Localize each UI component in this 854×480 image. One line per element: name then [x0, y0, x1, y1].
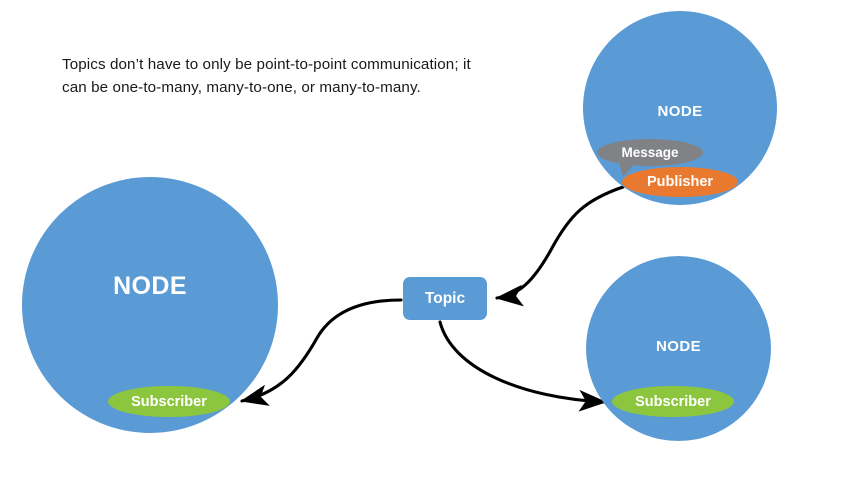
- node-bottom-right-label: NODE: [586, 338, 771, 355]
- edge-publisher-to-topic: [497, 187, 623, 298]
- node-left-label: NODE: [22, 272, 278, 301]
- subscriber-pill-right[interactable]: Subscriber: [612, 386, 734, 417]
- slide-canvas: Topics don’t have to only be point-to-po…: [0, 0, 854, 480]
- caption-text: Topics don’t have to only be point-to-po…: [62, 54, 492, 99]
- subscriber-pill-left[interactable]: Subscriber: [108, 386, 230, 417]
- topic-box[interactable]: Topic: [403, 277, 487, 320]
- publisher-pill[interactable]: Publisher: [622, 167, 738, 197]
- edge-topic-to-sub-right: [440, 322, 605, 402]
- node-top-right-label: NODE: [583, 103, 777, 120]
- message-pill[interactable]: Message: [597, 139, 703, 166]
